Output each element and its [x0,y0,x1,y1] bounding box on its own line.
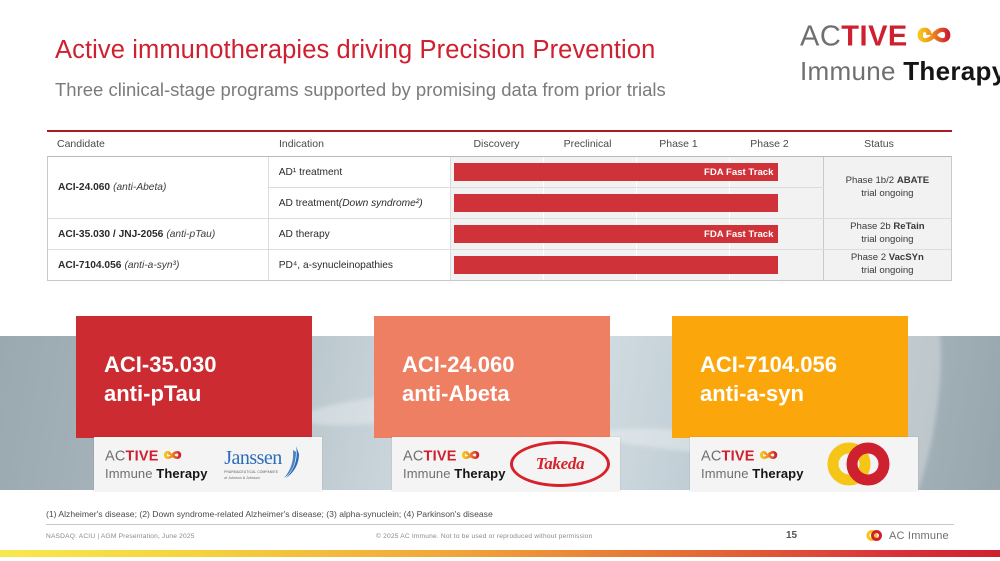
column-header-status: Status [815,138,943,150]
page-title: Active immunotherapies driving Precision… [55,36,655,65]
infinity-icon [159,448,183,466]
card-target: anti-a-syn [700,379,908,408]
progress-bar [454,256,779,274]
table-body: ACI-24.060(anti-Abeta) AD¹ treatment FDA… [47,156,952,281]
logo-ac-text: AC [800,21,841,53]
cell-candidate: ACI-7104.056(anti-a-syn³) [48,250,269,280]
status-line-2: trial ongoing [861,265,913,278]
partner-logo-janssen: Janssen PHARMACEUTICAL COMPANIES of John… [212,440,312,488]
column-header-indication: Indication [269,138,451,150]
logo-ac-text: AC [403,449,424,465]
logo-tive-text: TIVE [424,449,457,465]
ac-immune-rings-icon [865,529,885,542]
active-immune-therapy-logo: ACTIVE Immune Therapy [105,448,208,480]
cell-candidate: ACI-24.060(anti-Abeta) [48,157,269,218]
status-trial-name: ReTain [893,221,924,232]
partner-logo-takeda: Takeda [510,440,610,488]
page-number: 15 [786,530,797,541]
logo-therapy-text: Therapy [454,466,505,481]
program-card-aci-35030: ACI-35.030 anti-pTau ACTIVE Immune Thera… [76,316,312,492]
page-subtitle: Three clinical-stage programs supported … [55,79,666,101]
indication-text: AD treatment [279,198,339,209]
cell-candidate: ACI-35.030 / JNJ-2056(anti-pTau) [48,219,269,249]
card-target: anti-Abeta [402,379,610,408]
janssen-subtext: PHARMACEUTICAL COMPANIES [224,470,278,474]
logo-immune-text: Immune [403,466,454,481]
card-logo-strip: ACTIVE Immune Therapy [690,437,918,491]
candidate-name: ACI-35.030 / JNJ-2056 [58,229,163,240]
logo-therapy-text: Therapy [156,466,207,481]
ac-immune-rings-icon [821,442,895,486]
indication-sub-row: PD⁴, a-synucleinopathies [269,250,824,280]
status-line-2: trial ongoing [861,234,913,247]
cell-progress-bars: FDA Fast Track [451,157,824,187]
progress-bar [454,194,779,212]
column-header-candidate: Candidate [47,138,269,150]
candidate-name: ACI-24.060 [58,182,110,193]
table-header-row: Candidate Indication Discovery Preclinic… [47,132,952,156]
card-color-block: ACI-24.060 anti-Abeta [374,316,610,438]
footer-left-text: NASDAQ: ACIU | AGM Presentation, June 20… [46,533,195,540]
active-immune-therapy-logo: ACTIVE Immune Therapy [701,448,804,480]
status-line-1: Phase 1b/2 ABATE [846,175,930,188]
cell-progress-bars: FDA Fast Track [451,219,824,249]
table-row: ACI-35.030 / JNJ-2056(anti-pTau) AD ther… [48,219,951,250]
cell-indication: AD therapy [269,219,451,249]
table-row: ACI-7104.056(anti-a-syn³) PD⁴, a-synucle… [48,250,951,280]
cell-status: Phase 2b ReTain trial ongoing [824,219,951,249]
takeda-wordmark: Takeda [536,454,585,474]
card-target: anti-pTau [104,379,312,408]
cell-status: Phase 1b/2 ABATE trial ongoing [824,157,951,218]
card-color-block: ACI-35.030 anti-pTau [76,316,312,438]
logo-immune-text: Immune [105,466,156,481]
cell-status: Phase 2 VacSYn trial ongoing [824,250,951,280]
card-color-block: ACI-7104.056 anti-a-syn [672,316,908,438]
active-immune-therapy-logo: ACTIVE Immune Therapy [403,448,506,480]
bar-label-fda-fast-track: FDA Fast Track [704,229,779,240]
infinity-icon [457,448,481,466]
logo-ac-text: AC [701,449,722,465]
indication-sub-row: AD¹ treatment FDA Fast Track [269,157,824,188]
card-code: ACI-7104.056 [700,350,908,379]
logo-therapy-text: Therapy [903,56,1000,86]
indication-note: (Down syndrome²) [339,198,423,209]
column-header-phase-2: Phase 2 [724,138,815,150]
candidate-note: (anti-a-syn³) [121,260,179,271]
logo-tive-text: TIVE [126,449,159,465]
progress-bar: FDA Fast Track [454,163,779,181]
cell-progress-bars [451,188,824,218]
cell-indication: PD⁴, a-synucleinopathies [269,250,451,280]
card-code: ACI-24.060 [402,350,610,379]
cell-progress-bars [451,250,824,280]
cell-indication: AD¹ treatment [269,157,451,187]
footer-copyright: © 2025 AC Immune. Not to be used or repr… [376,533,593,540]
column-header-discovery: Discovery [451,138,542,150]
infinity-icon [755,448,779,466]
active-immune-therapy-logo: ACTIVE Immune Therapy [800,22,1000,84]
card-logo-strip: ACTIVE Immune Therapy Takeda [392,437,620,491]
footer-logo-text: AC Immune [889,530,949,542]
card-logo-strip: ACTIVE Immune Therapy Janssen PHARMACEUT… [94,437,322,491]
column-header-phase-1: Phase 1 [633,138,724,150]
janssen-wordmark: Janssen [224,448,282,468]
partner-logo-rings [808,440,908,488]
status-line-1: Phase 2b ReTain [850,221,925,234]
logo-immune-text: Immune [701,466,752,481]
program-card-aci-24060: ACI-24.060 anti-Abeta ACTIVE Immune Ther… [374,316,610,492]
table-row: ACI-24.060(anti-Abeta) AD¹ treatment FDA… [48,157,951,219]
logo-therapy-text: Therapy [752,466,803,481]
column-header-preclinical: Preclinical [542,138,633,150]
pipeline-table: Candidate Indication Discovery Preclinic… [47,130,952,281]
bottom-gradient-bar [0,550,1000,557]
card-code: ACI-35.030 [104,350,312,379]
cell-indication: AD treatment (Down syndrome²) [269,188,451,218]
status-line-1: Phase 2 VacSYn [851,252,924,265]
logo-tive-text: TIVE [841,21,907,53]
status-line-2: trial ongoing [861,188,913,201]
janssen-jnj-text: of Johnson & Johnson [224,476,260,480]
infinity-icon [908,22,954,54]
candidate-note: (anti-Abeta) [110,182,166,193]
footnote: (1) Alzheimer's disease; (2) Down syndro… [46,509,954,525]
indication-sub-row: AD therapy FDA Fast Track [269,219,824,249]
takeda-oval-icon: Takeda [510,441,610,487]
program-card-aci-7104056: ACI-7104.056 anti-a-syn ACTIVE Immune Th… [672,316,908,492]
bar-label-fda-fast-track: FDA Fast Track [704,167,779,178]
ac-immune-footer-logo: AC Immune [865,529,949,542]
indication-sub-row: AD treatment (Down syndrome²) [269,188,824,218]
status-trial-name: ABATE [897,175,929,186]
candidate-note: (anti-pTau) [163,229,215,240]
logo-ac-text: AC [105,449,126,465]
logo-immune-text: Immune [800,56,903,86]
candidate-name: ACI-7104.056 [58,260,121,271]
logo-tive-text: TIVE [722,449,755,465]
status-trial-name: VacSYn [889,252,924,263]
progress-bar: FDA Fast Track [454,225,779,243]
janssen-swoosh-icon [282,444,300,484]
